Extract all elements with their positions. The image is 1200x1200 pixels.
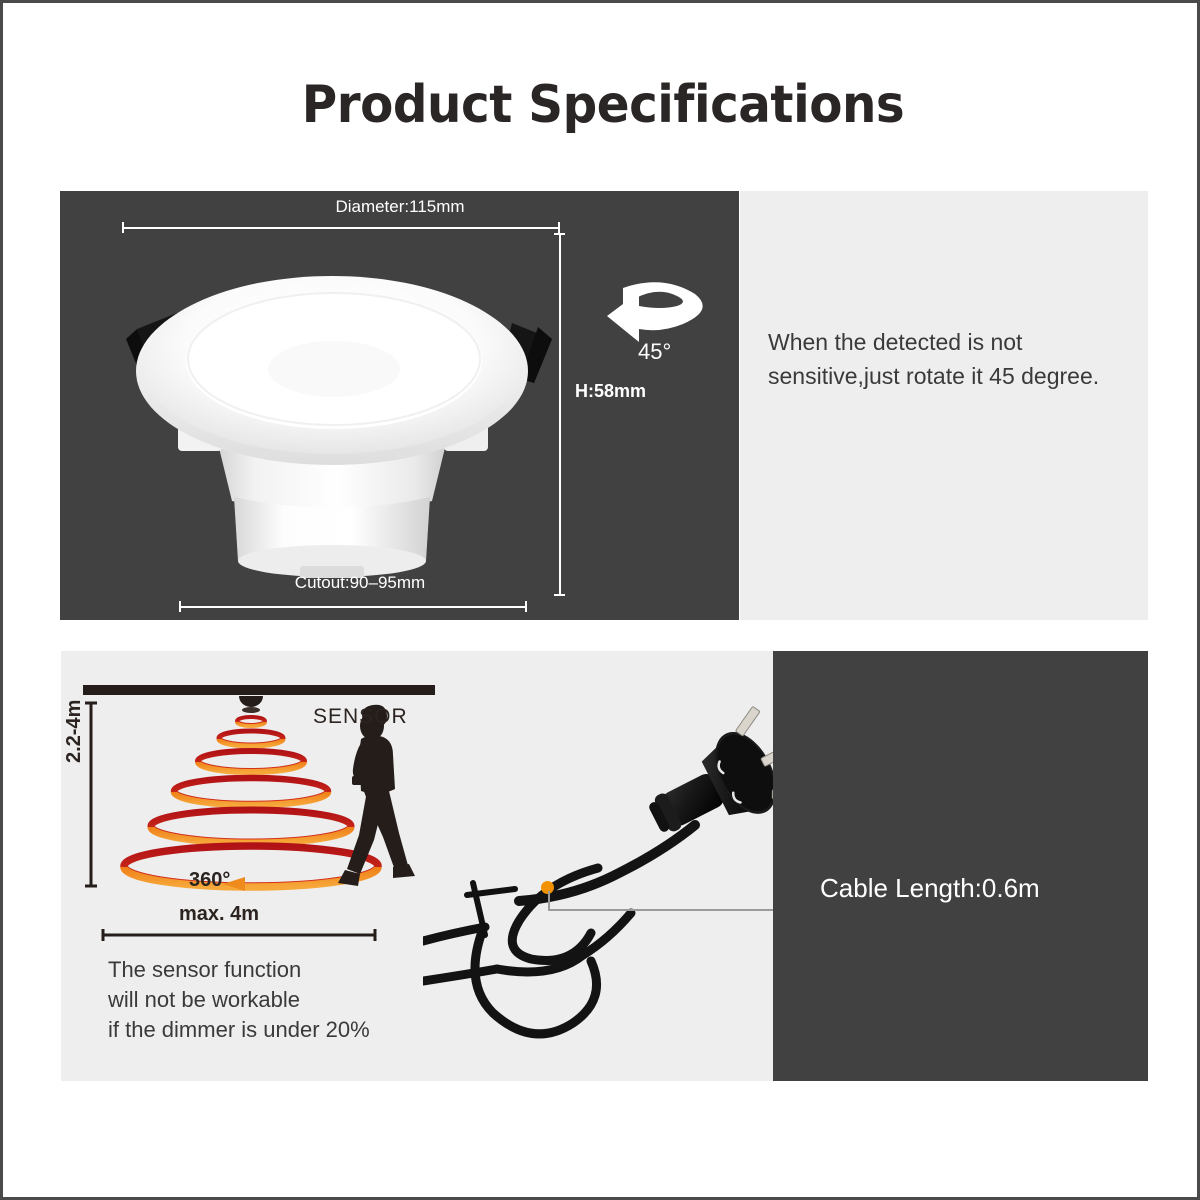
- cable-length-label: Cable Length:0.6m: [820, 873, 1040, 904]
- cutout-dimension-line: [179, 601, 527, 612]
- cable-length-panel: Cable Length:0.6m: [773, 651, 1148, 1081]
- page-title: Product Specifications: [45, 75, 1161, 135]
- sensor-max-range-label: max. 4m: [179, 903, 259, 926]
- product-specifications-page: Product Specifications: [0, 0, 1200, 1200]
- power-plug-cable-photo: [423, 683, 793, 1073]
- diameter-dimension-line: [122, 222, 560, 233]
- sensor-height-range-label: 2.2-4m: [63, 700, 86, 763]
- recessed-downlight-photo: [82, 261, 582, 591]
- height-dimension-label: H:58mm: [575, 381, 646, 402]
- rotate-angle-label: 45°: [638, 339, 671, 365]
- sensor-label: SENSOR: [313, 705, 408, 729]
- diameter-dimension-label: Diameter:115mm: [210, 197, 590, 217]
- sensor-coverage-angle-label: 360°: [189, 869, 230, 892]
- rotate-note-panel: [740, 191, 1148, 620]
- cable-leader-line: [548, 909, 806, 911]
- rotate-arrow-icon: [605, 276, 715, 346]
- cable-leader-tick: [548, 891, 550, 911]
- sensor-coverage-diagram: [75, 681, 475, 966]
- cutout-dimension-label: Cutout:90–95mm: [200, 573, 520, 593]
- product-dimensions-panel: Diameter:115mm Cutout:90–95mm H:58mm 45°: [60, 191, 739, 620]
- rotate-note-text: When the detected is not sensitive,just …: [768, 325, 1128, 393]
- height-dimension-line: [554, 233, 565, 596]
